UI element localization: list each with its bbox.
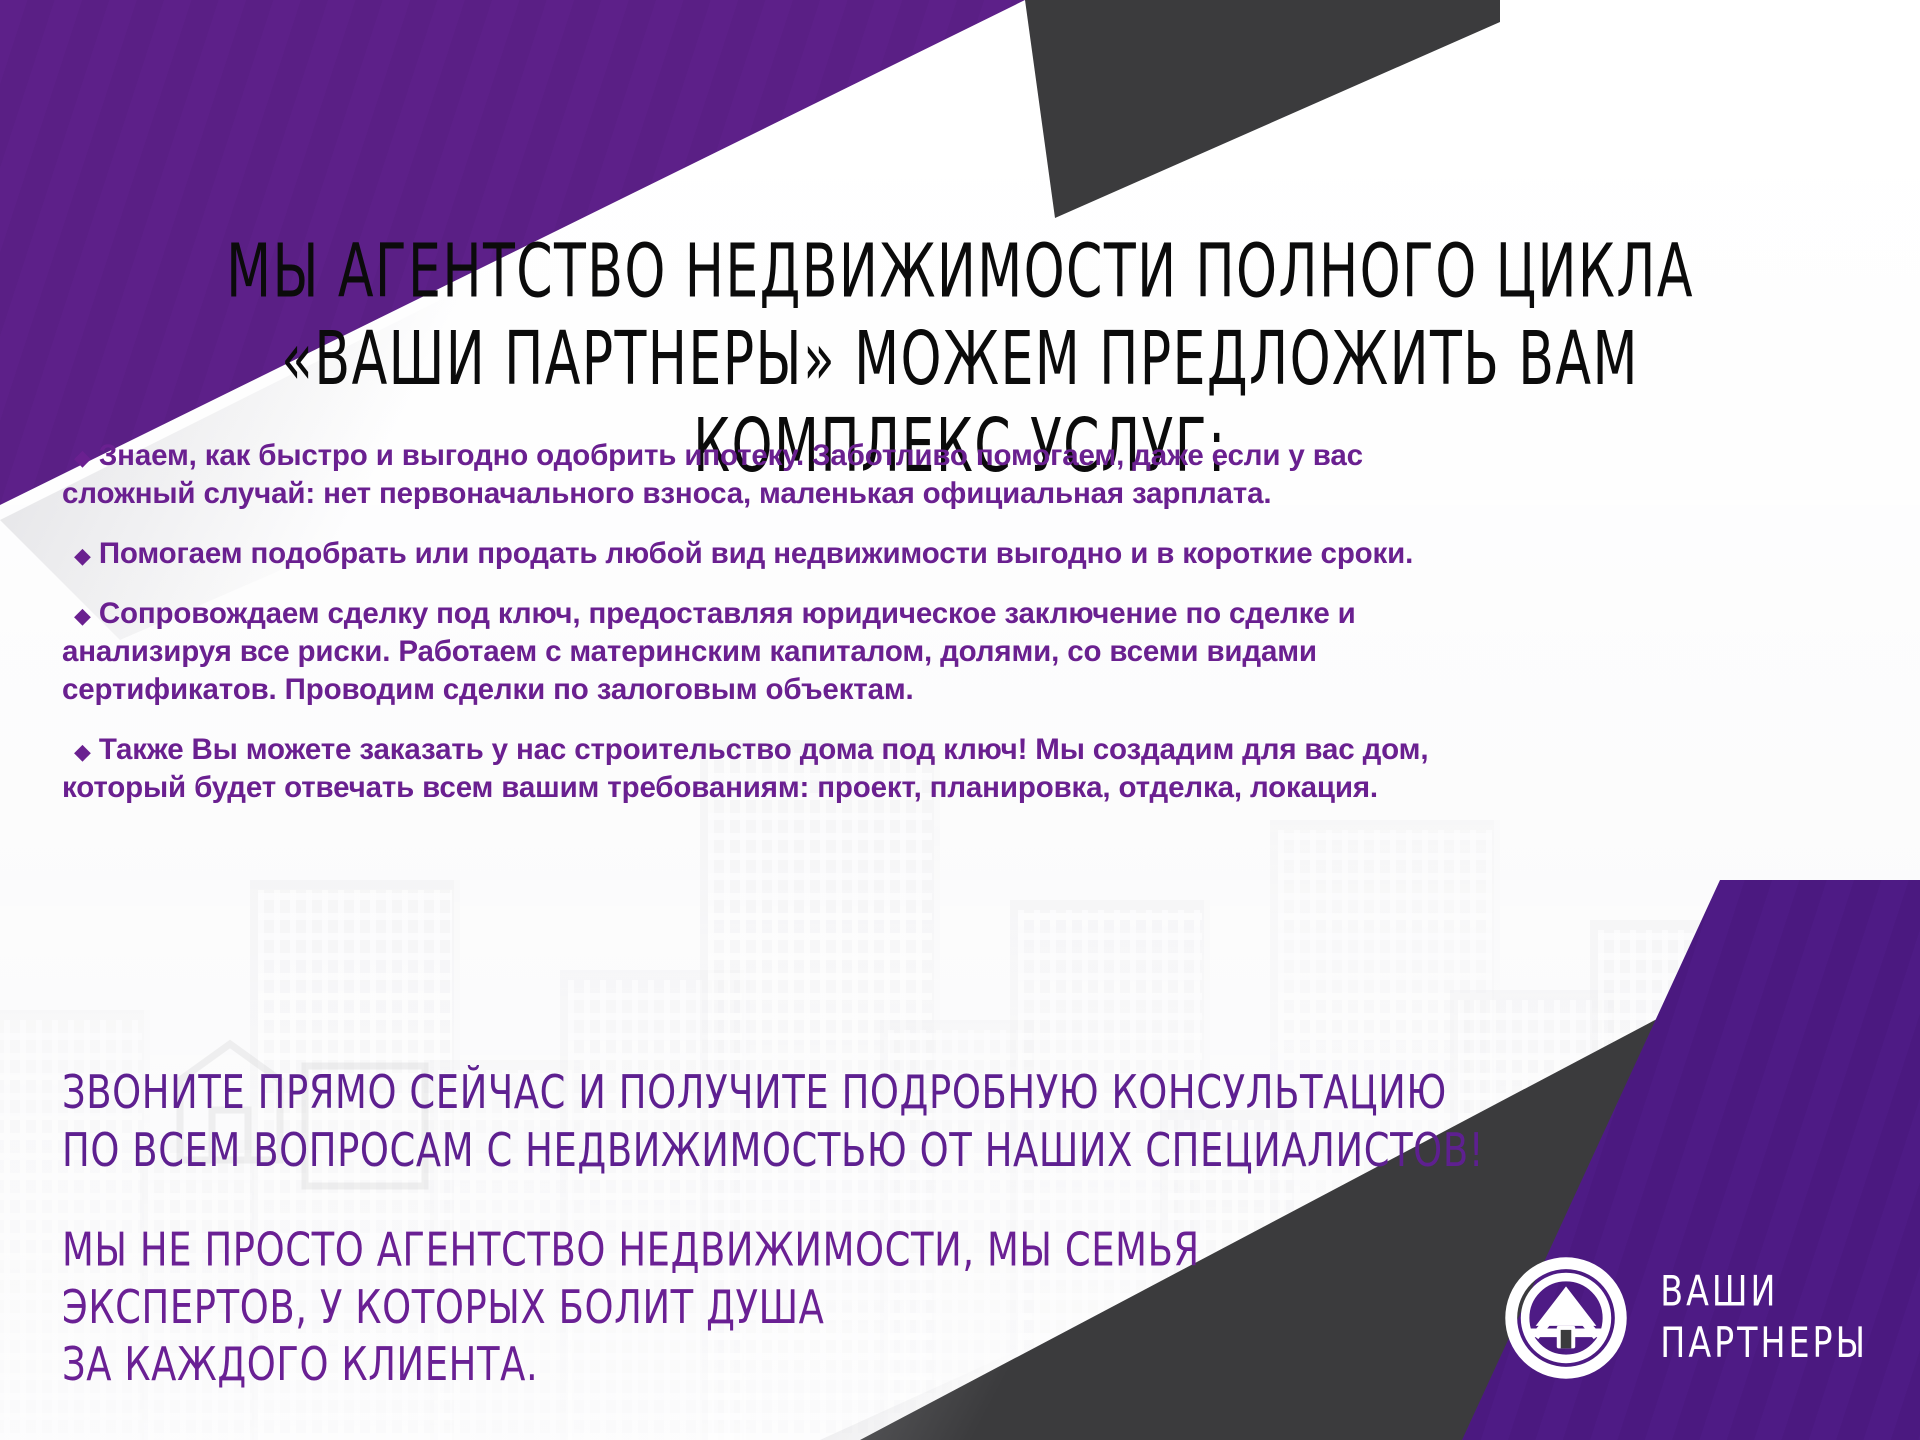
list-item-text: Помогаем подобрать или продать любой вид…: [99, 537, 1413, 570]
diamond-bullet-icon: ◆: [74, 543, 91, 568]
house-in-circle-logo-icon: [1500, 1252, 1632, 1384]
cta-line-2: по всем вопросам с недвижимостью от наши…: [62, 1121, 1492, 1179]
diamond-bullet-icon: ◆: [74, 739, 91, 764]
headline-line-1: Мы агентство недвижимости полного цикла: [77, 228, 1843, 315]
list-item: ◆ Также Вы можете заказать у нас строите…: [62, 731, 1487, 807]
cta-line-1: Звоните прямо сейчас и получите подробну…: [62, 1063, 1492, 1121]
closing-statement: Мы не просто агентство недвижимости, мы …: [62, 1222, 1262, 1393]
services-bullet-list: ◆ Знаем, как быстро и выгодно одобрить и…: [62, 437, 1487, 829]
slide-canvas: Мы агентство недвижимости полного цикла …: [0, 0, 1920, 1440]
diamond-bullet-icon: ◆: [74, 603, 91, 628]
list-item-text: Сопровождаем сделку под ключ, предоставл…: [62, 597, 1356, 706]
closing-line-2: экспертов, у которых болит душа: [62, 1279, 1262, 1336]
slide-content: Мы агентство недвижимости полного цикла …: [0, 0, 1920, 1440]
brand-logo: Ваши Партнеры: [1500, 1252, 1868, 1384]
closing-line-3: за каждого клиента.: [62, 1336, 1262, 1393]
list-item: ◆ Сопровождаем сделку под ключ, предоста…: [62, 595, 1487, 709]
list-item: ◆ Помогаем подобрать или продать любой в…: [62, 535, 1487, 573]
brand-name-line-2: Партнеры: [1660, 1318, 1868, 1370]
list-item-text: Также Вы можете заказать у нас строитель…: [62, 733, 1428, 804]
list-item-text: Знаем, как быстро и выгодно одобрить ипо…: [62, 439, 1363, 510]
list-item: ◆ Знаем, как быстро и выгодно одобрить и…: [62, 437, 1487, 513]
brand-name-line-1: Ваши: [1660, 1266, 1868, 1318]
diamond-bullet-icon: ◆: [74, 445, 91, 470]
brand-logo-text: Ваши Партнеры: [1660, 1266, 1868, 1369]
closing-line-1: Мы не просто агентство недвижимости, мы …: [62, 1222, 1262, 1279]
headline-line-2: «Ваши партнеры» можем предложить вам: [77, 316, 1843, 403]
call-to-action: Звоните прямо сейчас и получите подробну…: [62, 1063, 1492, 1179]
